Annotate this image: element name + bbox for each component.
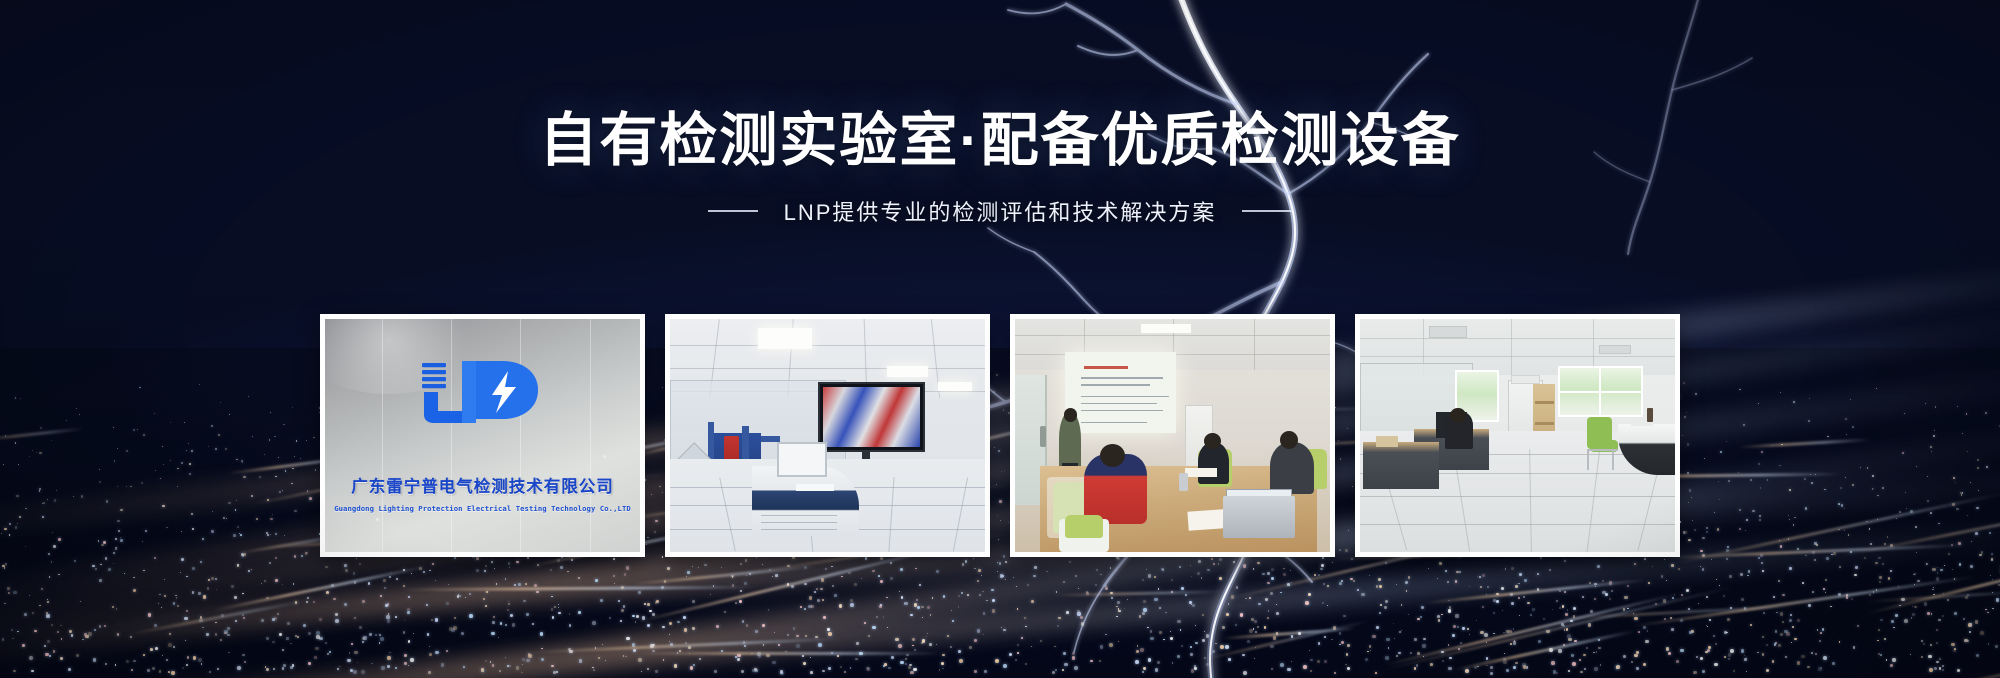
rule-right-icon [1242, 210, 1292, 212]
gallery-card-company-sign[interactable]: 广东雷宁普电气检测技术有限公司 Guangdong Lighting Prote… [320, 314, 645, 557]
photo-gallery: 广东雷宁普电气检测技术有限公司 Guangdong Lighting Prote… [0, 314, 2000, 557]
photo-testing-laboratory [670, 319, 985, 552]
hero-banner: 自有检测实验室·配备优质检测设备 LNP提供专业的检测评估和技术解决方案 [0, 0, 2000, 678]
gallery-card-meeting-room[interactable] [1010, 314, 1335, 557]
photo-meeting-training-room [1015, 319, 1330, 552]
page-title: 自有检测实验室·配备优质检测设备 [0, 110, 2000, 173]
company-name-en: Guangdong Lighting Protection Electrical… [325, 504, 640, 513]
banner-subtitle: LNP提供专业的检测评估和技术解决方案 [784, 195, 1217, 227]
photo-company-sign: 广东雷宁普电气检测技术有限公司 Guangdong Lighting Prote… [325, 319, 640, 552]
company-name-cn: 广东雷宁普电气检测技术有限公司 [325, 473, 640, 497]
lnp-logo-icon [420, 359, 546, 425]
banner-subtitle-row: LNP提供专业的检测评估和技术解决方案 [0, 195, 2000, 227]
banner-text-block: 自有检测实验室·配备优质检测设备 LNP提供专业的检测评估和技术解决方案 [0, 0, 2000, 227]
photo-office-area [1360, 319, 1675, 552]
gallery-card-laboratory[interactable] [665, 314, 990, 557]
gallery-card-office[interactable] [1355, 314, 1680, 557]
rule-left-icon [708, 210, 758, 212]
